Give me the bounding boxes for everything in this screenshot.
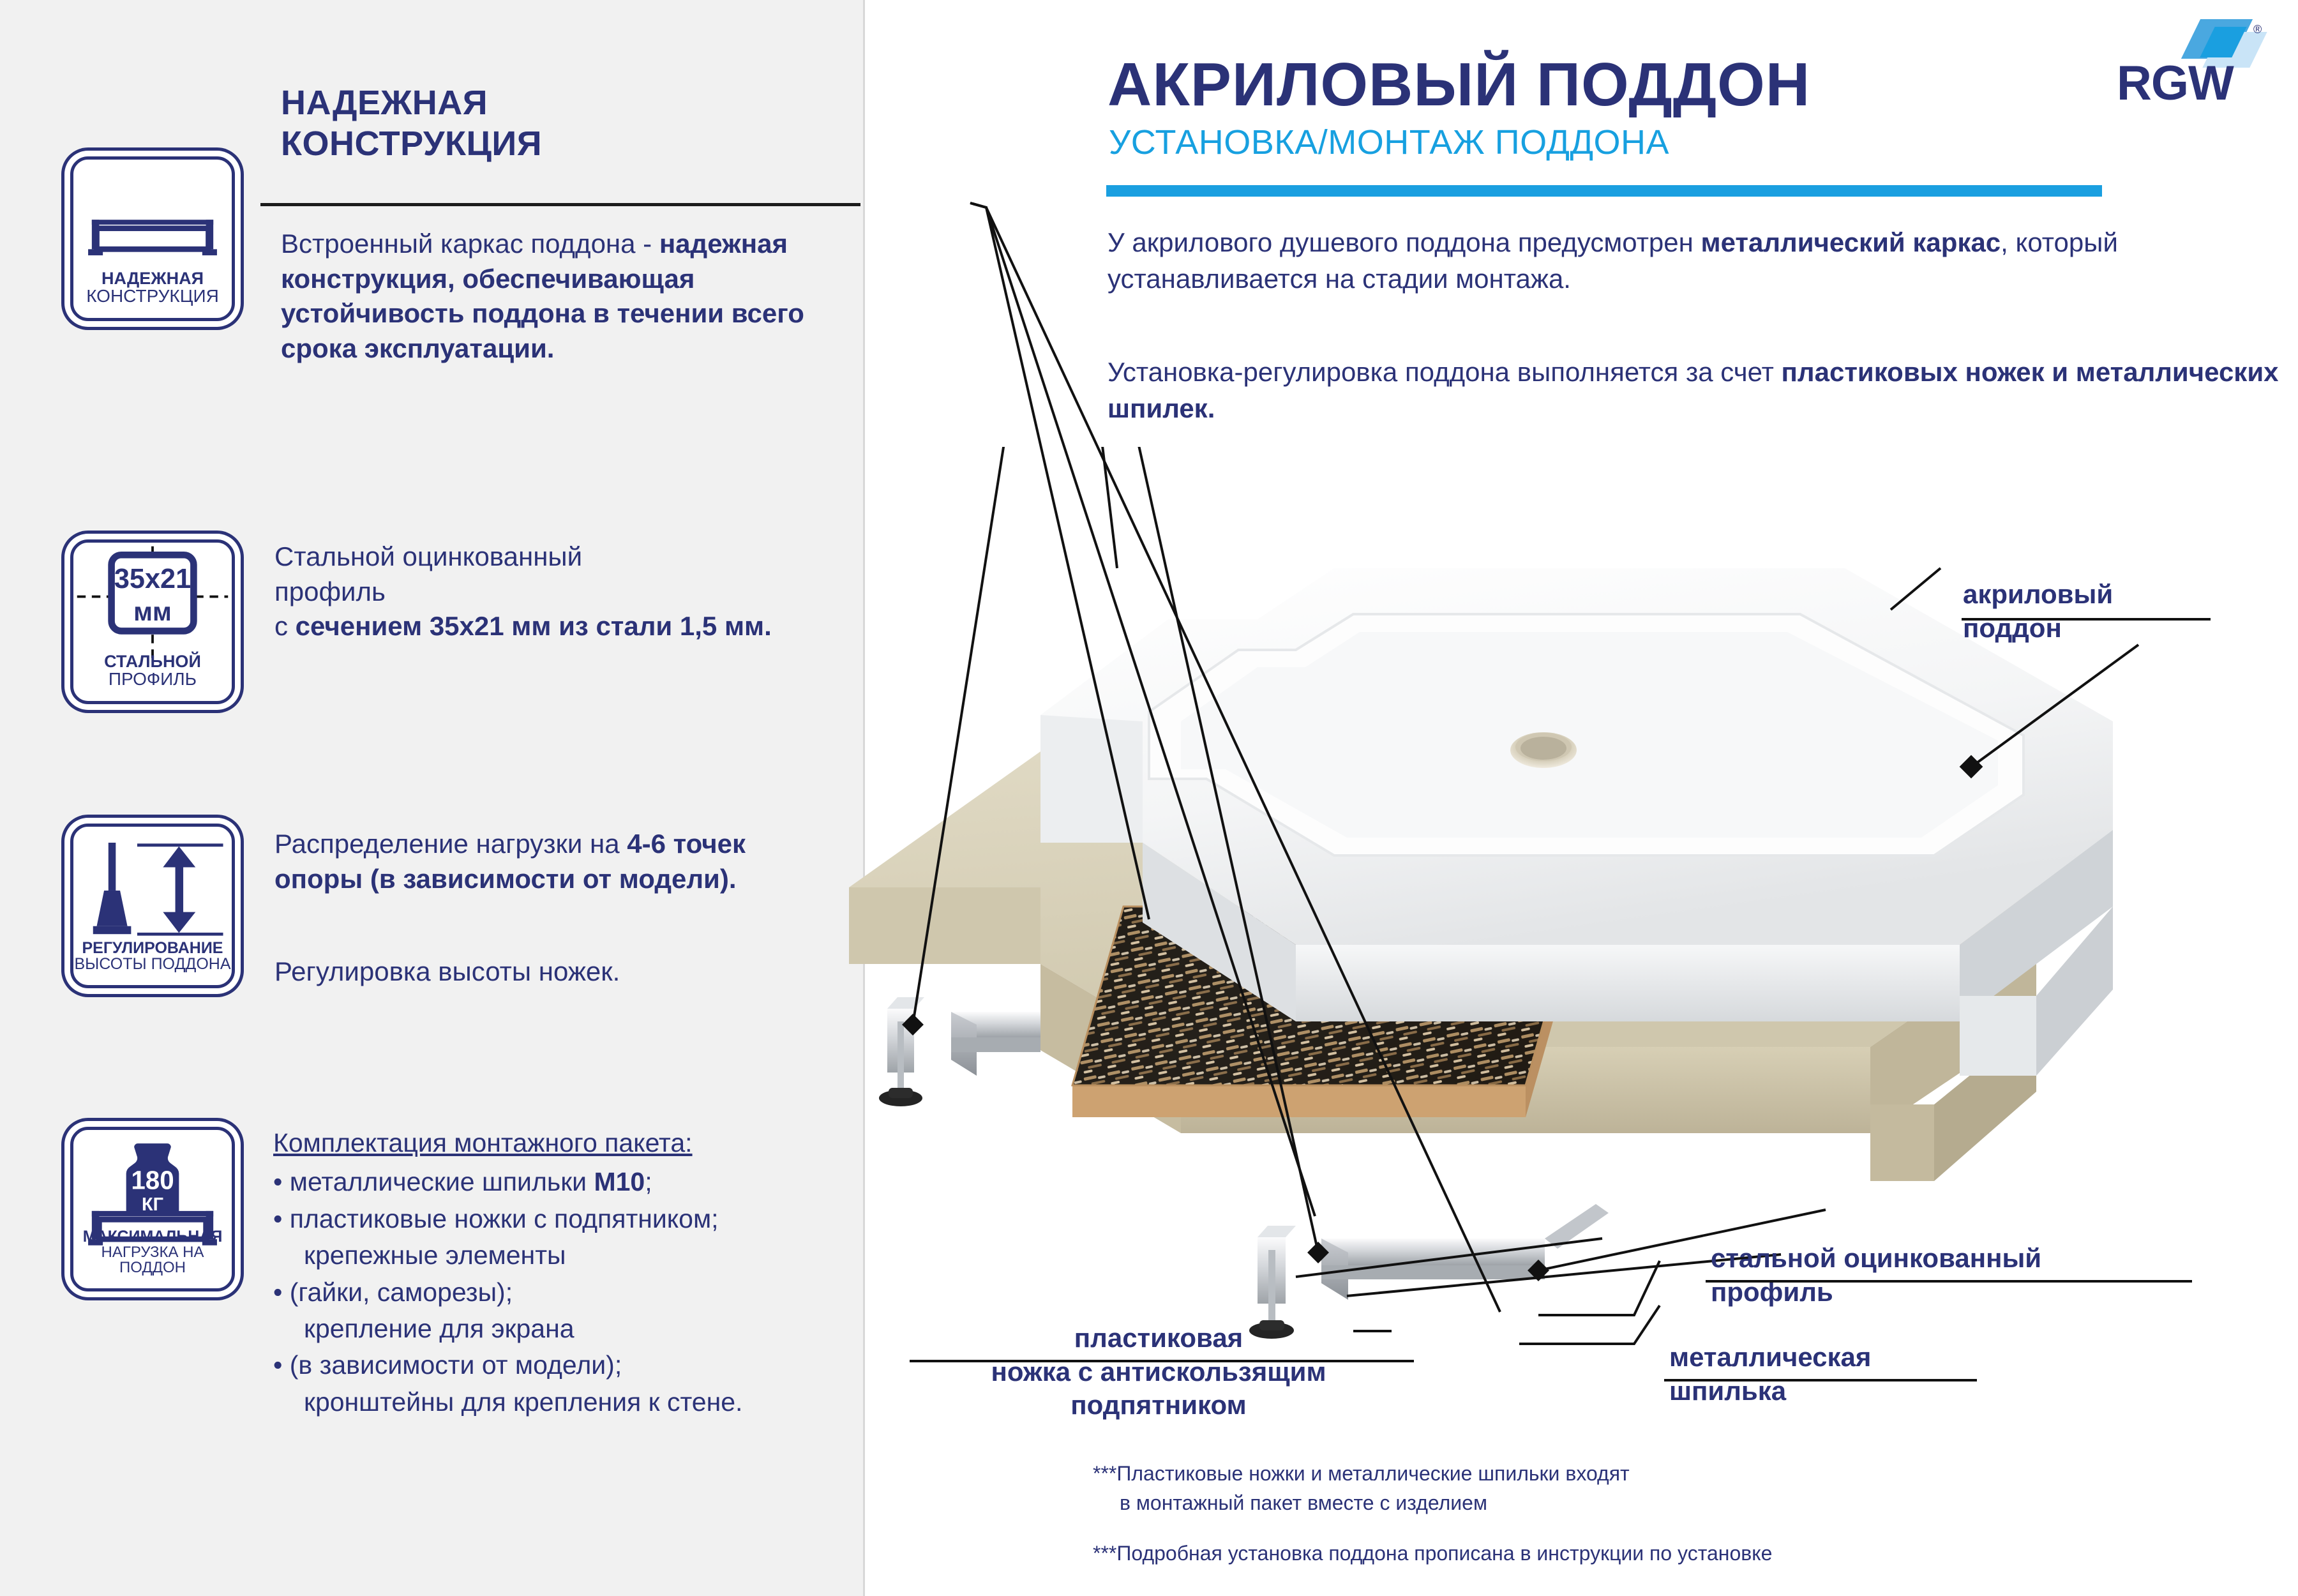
callout-line: поддон <box>1963 612 2113 645</box>
icon-box-reliable-construction: НАДЕЖНАЯ КОНСТРУКЦИЯ <box>70 156 235 321</box>
steel-text-line2: профиль <box>274 576 386 606</box>
footnote-marker: *** <box>1093 1462 1116 1485</box>
icon-caption-top: НАДЕЖНАЯ <box>73 270 232 287</box>
callout-line: металлическая <box>1669 1341 1871 1374</box>
icon-box-steel-profile: 35x21 мм СТАЛЬНОЙ ПРОФИЛЬ <box>70 539 235 704</box>
feature-text-plain: Встроенный каркас поддона - <box>281 229 659 259</box>
callout-acrylic-tray: акриловый поддон <box>1963 578 2113 645</box>
title-accent-bar <box>1106 185 2102 197</box>
left-heading-line2: КОНСТРУКЦИЯ <box>281 124 542 163</box>
infographic-page: НАДЕЖНАЯ КОНСТРУКЦИЯ НАДЕЖНАЯ КОНСТРУКЦИ… <box>0 0 2298 1596</box>
list-item-continuation: кронштейны для крепления к стене. <box>273 1384 848 1420</box>
steel-text-line3-plain: с <box>274 611 296 641</box>
feature-text-reliable-construction: Встроенный каркас поддона - надежная кон… <box>281 227 843 366</box>
callout-metal-stud: металлическая шпилька <box>1669 1341 1871 1408</box>
icon-box-max-load: 180 КГ МАКСИМАЛЬНАЯ НАГРУЗКА НА ПОДДОН <box>70 1127 235 1291</box>
svg-text:35x21: 35x21 <box>114 564 191 594</box>
callout-line: акриловый <box>1963 578 2113 612</box>
load-text-plain: Распределение нагрузки на <box>274 829 627 859</box>
feature-text-leg-adjust: Регулировка высоты ножек. <box>274 954 836 990</box>
list-item: • пластиковые ножки с подпятником; <box>273 1201 848 1237</box>
list-item-continuation: крепление для экрана <box>273 1311 848 1347</box>
page-subtitle: УСТАНОВКА/МОНТАЖ ПОДДОНА <box>1109 123 1669 162</box>
logo-wordmark: RGW <box>2117 56 2234 111</box>
footnote-line2: в монтажный пакет вместе с изделием <box>1093 1488 1487 1517</box>
rgw-logo: RGW ® <box>2117 18 2264 114</box>
callout-line: пластиковая <box>906 1321 1411 1355</box>
leg-adjust-text: Регулировка высоты ножек. <box>274 956 620 986</box>
page-title: АКРИЛОВЫЙ ПОДДОН <box>1108 50 1810 120</box>
heading-rule <box>260 203 860 206</box>
registered-trademark-icon: ® <box>2253 23 2262 36</box>
footnote-1: ***Пластиковые ножки и металлические шпи… <box>1093 1459 1630 1518</box>
icon-box-height-adjust: РЕГУЛИРОВАНИЕ ВЫСОТЫ ПОДДОНА <box>70 824 235 988</box>
intro-paragraph-2: Установка-регулировка поддона выполняетс… <box>1108 354 2288 426</box>
icon-caption-bottom: КОНСТРУКЦИЯ <box>73 287 232 305</box>
callout-rule-plastic-leg <box>910 1360 1414 1362</box>
callout-line: стальной оцинкованный <box>1711 1242 2041 1276</box>
list-item: • (гайки, саморезы); <box>273 1274 848 1311</box>
svg-text:мм: мм <box>133 597 172 626</box>
steel-text-line3-bold: сечением 35х21 мм из стали 1,5 мм. <box>296 611 772 641</box>
list-item: • металлические шпильки M10; <box>273 1164 848 1200</box>
intro-paragraph-1: У акрилового душевого поддона предусмотр… <box>1108 225 2288 297</box>
icon-caption-top: РЕГУЛИРОВАНИЕ <box>73 940 232 956</box>
footnote-line1: Подробная установка поддона прописана в … <box>1116 1542 1772 1565</box>
list-item-continuation: крепежные элементы <box>273 1237 848 1274</box>
callout-steel-profile: стальной оцинкованный профиль <box>1711 1242 2041 1309</box>
footnote-2: ***Подробная установка поддона прописана… <box>1093 1539 1772 1568</box>
icon-caption-top: МАКСИМАЛЬНАЯ <box>73 1229 232 1245</box>
icon-caption-top: СТАЛЬНОЙ <box>73 653 232 670</box>
steel-text-line1: Стальной оцинкованный <box>274 541 582 571</box>
icon-caption-reliable: НАДЕЖНАЯ КОНСТРУКЦИЯ <box>73 270 232 305</box>
list-item: • (в зависимости от модели); <box>273 1347 848 1383</box>
icon-caption-steel: СТАЛЬНОЙ ПРОФИЛЬ <box>73 653 232 688</box>
callout-plastic-leg: пластиковая ножка с антискользящим подпя… <box>906 1321 1411 1422</box>
feature-text-steel-profile: Стальной оцинкованный профиль с сечением… <box>274 539 836 644</box>
callout-rule-metal-stud <box>1664 1379 1977 1381</box>
feature-text-load-distribution: Распределение нагрузки на 4-6 точек опор… <box>274 827 836 896</box>
callout-rule-acrylic-tray <box>1962 618 2211 621</box>
left-section-heading: НАДЕЖНАЯ КОНСТРУКЦИЯ <box>281 83 753 164</box>
callout-rule-steel-profile <box>1706 1280 2192 1283</box>
icon-caption-height: РЕГУЛИРОВАНИЕ ВЫСОТЫ ПОДДОНА <box>73 940 232 972</box>
callout-line: подпятником <box>906 1389 1411 1422</box>
mounting-kit-block: Комплектация монтажного пакета: • металл… <box>273 1125 848 1420</box>
icon-caption-bottom: НАГРУЗКА НА ПОДДОН <box>73 1245 232 1276</box>
footnote-line1: Пластиковые ножки и металлические шпильк… <box>1116 1462 1629 1485</box>
footnote-marker: *** <box>1093 1542 1116 1565</box>
icon-caption-max-load: МАКСИМАЛЬНАЯ НАГРУЗКА НА ПОДДОН <box>73 1229 232 1276</box>
mounting-kit-title: Комплектация монтажного пакета: <box>273 1125 848 1161</box>
svg-text:180: 180 <box>131 1165 174 1194</box>
icon-caption-bottom: ВЫСОТЫ ПОДДОНА <box>73 956 232 972</box>
left-heading-line1: НАДЕЖНАЯ <box>281 84 488 122</box>
icon-caption-bottom: ПРОФИЛЬ <box>73 670 232 688</box>
